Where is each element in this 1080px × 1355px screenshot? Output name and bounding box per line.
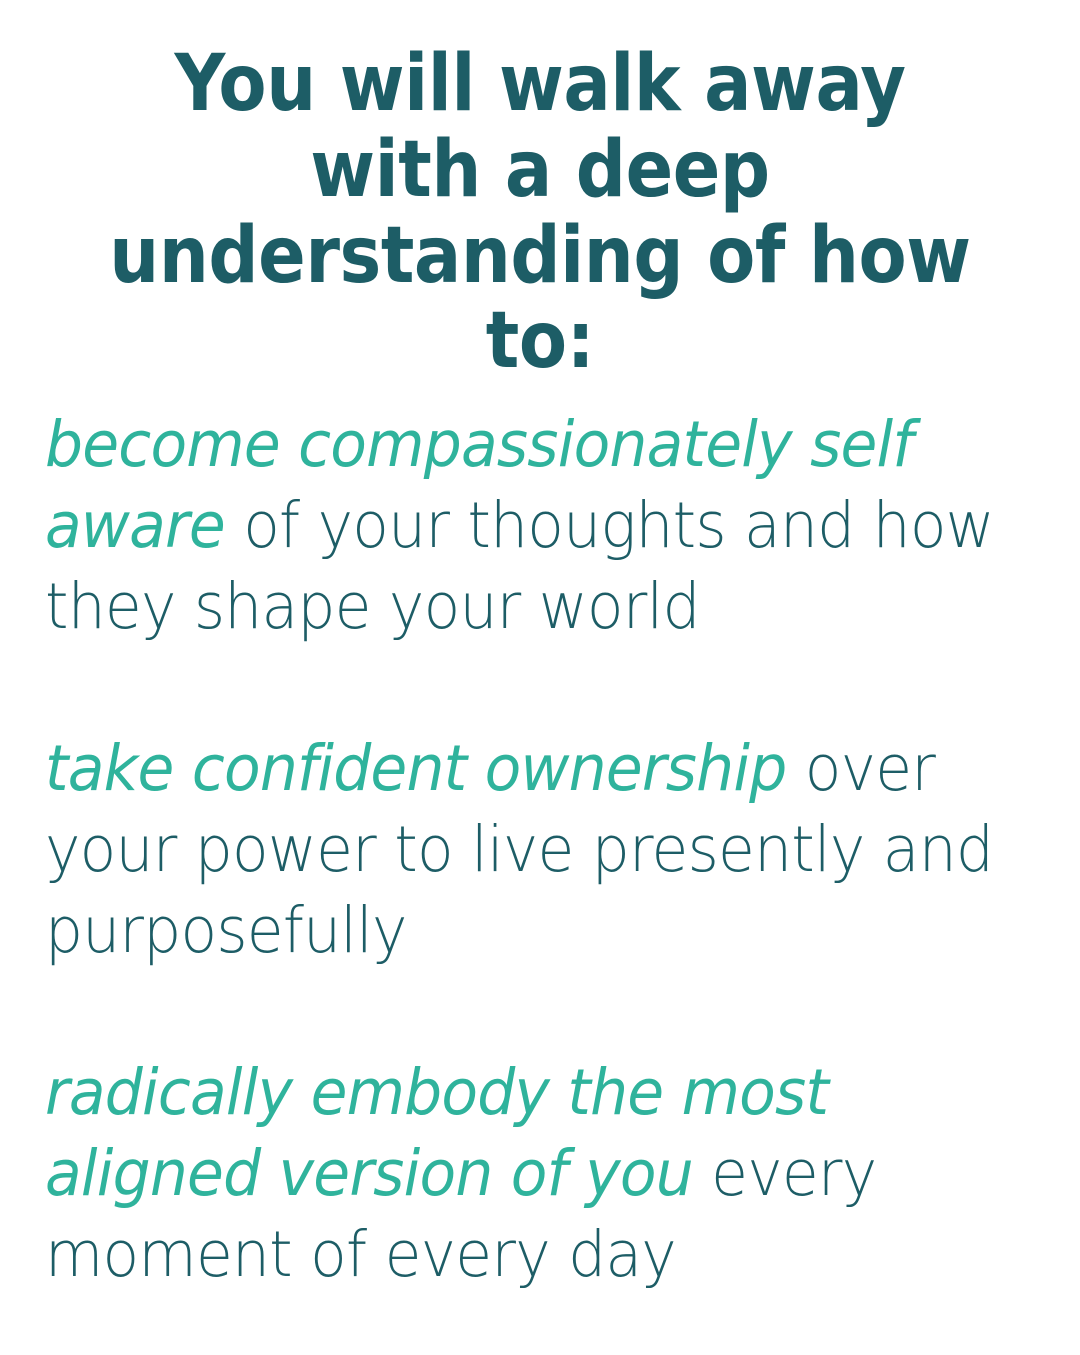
slide-canvas: You will walk away with a deep understan… <box>0 0 1080 1355</box>
page-title: You will walk away with a deep understan… <box>54 0 1026 385</box>
statement-accent-phrase: take confident ownership <box>45 732 786 805</box>
statement-item: become compassionately self aware of you… <box>45 404 995 647</box>
statement-item: take confident ownership over your power… <box>45 728 995 971</box>
statement-item: radically embody the most aligned versio… <box>45 1052 995 1295</box>
statement-list: become compassionately self aware of you… <box>45 404 1045 1295</box>
